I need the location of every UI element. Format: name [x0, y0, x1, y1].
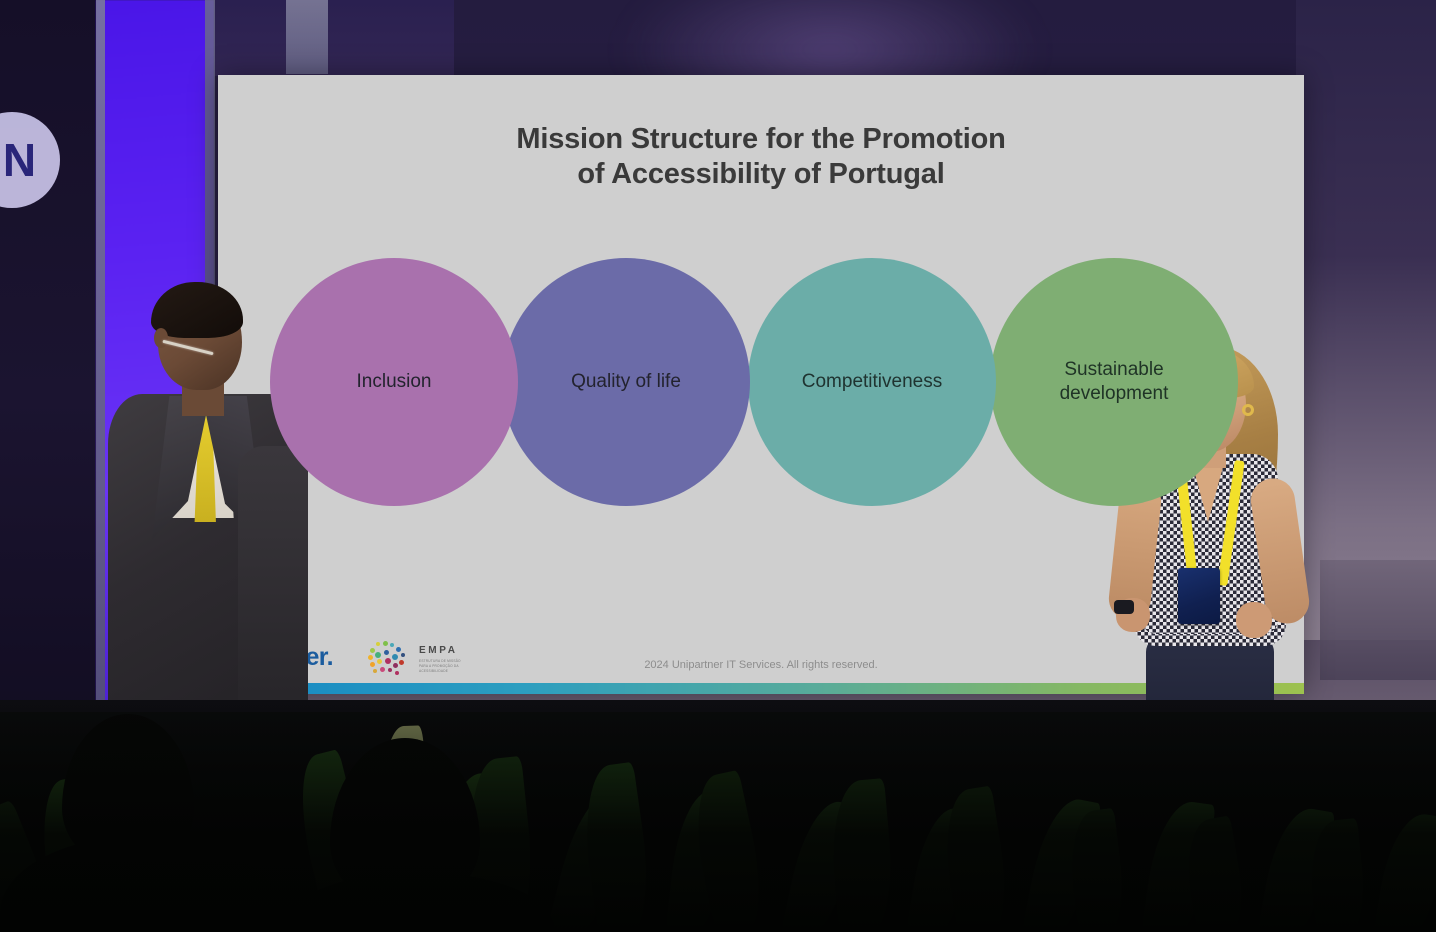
- circle-quality-of-life: Quality of life: [502, 258, 750, 506]
- backdrop-upper-strip: [214, 0, 454, 76]
- female-conference-badge: [1178, 568, 1220, 624]
- presentation-clicker-icon: [1114, 600, 1134, 614]
- backdrop-right-panel: [1320, 560, 1436, 680]
- female-earring-right: [1242, 404, 1254, 416]
- male-ear: [154, 328, 168, 348]
- backdrop-right-wall: [1296, 0, 1436, 640]
- backdrop-left-dark-panel: [0, 0, 96, 724]
- male-arm-right: [238, 446, 308, 726]
- slide-title: Mission Structure for the Promotion of A…: [218, 122, 1304, 193]
- presentation-photo: N Mission Structure for the Promotion of…: [0, 0, 1436, 932]
- female-hand-right: [1236, 602, 1272, 638]
- foreground-shadow-overlay: [0, 712, 1436, 932]
- backdrop-light-panel: [286, 0, 328, 74]
- circle-sustainable-development: Sustainable development: [990, 258, 1238, 506]
- venue-logo-letter: N: [3, 133, 35, 187]
- empa-logo-name: EMPA: [419, 646, 461, 656]
- circle-competitiveness: Competitiveness: [748, 258, 996, 506]
- circles-diagram: Inclusion Quality of life Competitivenes…: [270, 258, 1255, 508]
- circle-inclusion: Inclusion: [270, 258, 518, 506]
